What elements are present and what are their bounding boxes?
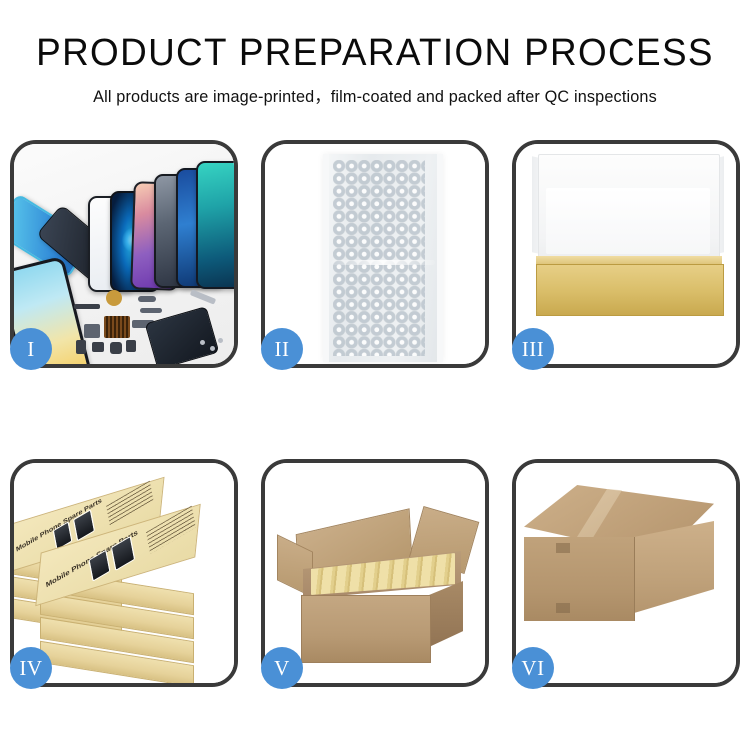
kraft-tray: [536, 264, 724, 316]
step-image-retail-box-stack: Mobile Phone Spare Parts Mobile Phone Sp…: [14, 463, 234, 683]
part-sim-tray: [76, 340, 86, 354]
part-flex-cable-b: [140, 308, 162, 313]
step-image-open-carton: [265, 463, 485, 683]
part-screw-a: [200, 340, 205, 345]
part-gold-coil: [106, 290, 122, 306]
part-flex-cable-a: [138, 296, 156, 302]
carton-seam-top: [556, 543, 570, 553]
step-panel-sealed-carton: VI: [512, 459, 740, 687]
steps-grid: I II: [10, 140, 740, 687]
step-badge-1: I: [10, 328, 52, 370]
step-image-product-parts: [14, 144, 234, 364]
part-screw-c: [218, 338, 223, 343]
page-title: PRODUCT PREPARATION PROCESS: [11, 0, 739, 74]
carton-front-panel: [301, 595, 431, 663]
step-badge-4: IV: [10, 647, 52, 689]
bubble-wrap-seam: [331, 260, 435, 265]
step-badge-6: VI: [512, 647, 554, 689]
step-panel-product-parts: I: [10, 140, 238, 368]
step-badge-2: II: [261, 328, 303, 370]
step-image-sealed-carton: [516, 463, 736, 683]
part-screw-b: [210, 346, 215, 351]
step-panel-bubble-wrap: II: [261, 140, 489, 368]
step-panel-inner-box: III: [512, 140, 740, 368]
part-button-flex: [84, 324, 100, 338]
part-vibrator: [126, 340, 136, 352]
sealed-carton-front: [524, 537, 635, 621]
part-bracket: [92, 342, 104, 352]
part-camera-module: [110, 342, 122, 354]
page-header: PRODUCT PREPARATION PROCESS All products…: [0, 0, 750, 107]
carton-seam-bottom: [556, 603, 570, 613]
part-speaker-mesh: [74, 304, 100, 309]
bubble-wrap-texture: [333, 160, 425, 356]
foam-insert: [546, 188, 710, 254]
step-panel-open-carton: V: [261, 459, 489, 687]
step-image-inner-box: [516, 144, 736, 364]
step-badge-5: V: [261, 647, 303, 689]
step-badge-3: III: [512, 328, 554, 370]
step-panel-retail-box-stack: Mobile Phone Spare Parts Mobile Phone Sp…: [10, 459, 238, 687]
part-connector-array: [104, 316, 130, 338]
bubble-wrap-pouch: [323, 154, 443, 362]
phone-teal-screen: [196, 161, 234, 289]
step-image-bubble-wrap: [265, 144, 485, 364]
page-subtitle: All products are image-printed，film-coat…: [6, 74, 745, 107]
